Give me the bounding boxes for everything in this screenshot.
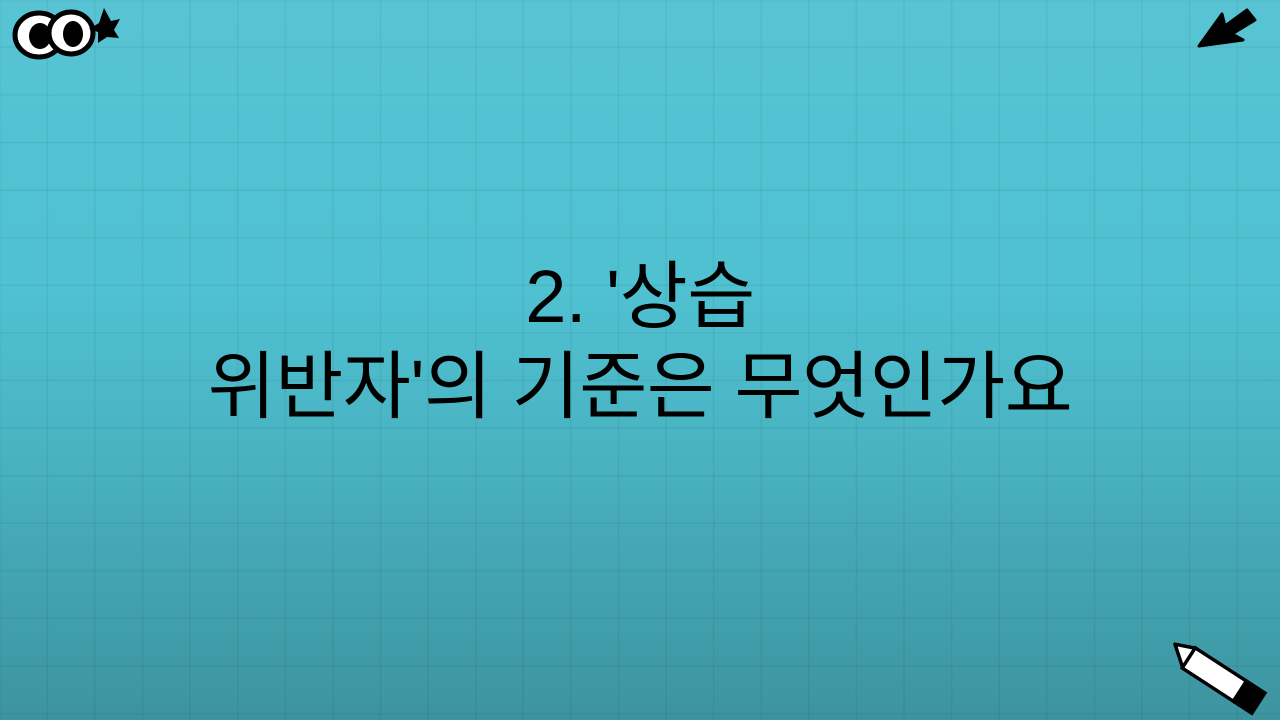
cursor-arrow-icon [1196, 4, 1258, 54]
eye-right-shape [49, 12, 93, 54]
pencil-icon [1152, 640, 1272, 718]
slide-canvas: 2. '상습 위반자'의 기준은 무엇인가요 [0, 0, 1280, 720]
googly-eyes-logo [8, 2, 120, 64]
title-line-2: 위반자'의 기준은 무엇인가요 [40, 342, 1240, 432]
title-line-1: 2. '상습 [40, 252, 1240, 342]
page-title: 2. '상습 위반자'의 기준은 무엇인가요 [0, 252, 1280, 433]
